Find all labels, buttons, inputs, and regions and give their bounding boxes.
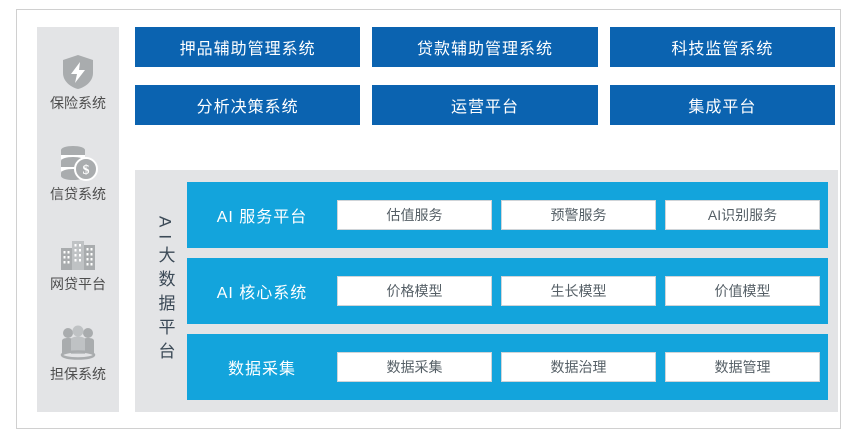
system-button-analysis-decision[interactable]: 分析决策系统 [135,85,360,125]
top-systems-group: 押品辅助管理系统 贷款辅助管理系统 科技监管系统 分析决策系统 运营平台 集成平… [135,27,835,143]
platform-row-label: AI 核心系统 [187,279,337,303]
system-row-2: 分析决策系统 运营平台 集成平台 [135,85,835,125]
system-button-operations-platform[interactable]: 运营平台 [372,85,597,125]
svg-text:$: $ [83,163,90,178]
sidebar-item-label: 网贷平台 [50,277,106,292]
system-button-tech-supervision[interactable]: 科技监管系统 [610,27,835,67]
system-button-loan-management[interactable]: 贷款辅助管理系统 [372,27,597,67]
sidebar-item-label: 保险系统 [50,96,106,111]
buildings-icon [57,233,99,273]
chip-ai-recognition-service[interactable]: AI识别服务 [665,200,820,230]
chip-growth-model[interactable]: 生长模型 [501,276,656,306]
chip-data-governance[interactable]: 数据治理 [501,352,656,382]
architecture-diagram-frame: 保险系统 $ 信贷 [16,9,841,429]
sidebar-item-guarantee[interactable]: 担保系统 [37,323,119,382]
platform-vertical-label: AI大数据平台 [143,182,187,400]
chip-group: 估值服务 预警服务 AI识别服务 [337,200,820,230]
chip-group: 数据采集 数据治理 数据管理 [337,352,820,382]
platform-row-data-collection: 数据采集 数据采集 数据治理 数据管理 [187,334,828,400]
sidebar-item-credit[interactable]: $ 信贷系统 [37,143,119,202]
platform-rows: AI 服务平台 估值服务 预警服务 AI识别服务 AI 核心系统 价格模型 生长… [187,182,828,400]
sidebar: 保险系统 $ 信贷 [37,27,119,412]
platform-row-label: AI 服务平台 [187,203,337,227]
chip-data-management[interactable]: 数据管理 [665,352,820,382]
system-row-1: 押品辅助管理系统 贷款辅助管理系统 科技监管系统 [135,27,835,67]
coins-dollar-icon: $ [57,143,99,183]
platform-vertical-label-text: AI大数据平台 [157,216,174,366]
system-button-integration-platform[interactable]: 集成平台 [610,85,835,125]
chip-value-model[interactable]: 价值模型 [665,276,820,306]
platform-row-ai-service: AI 服务平台 估值服务 预警服务 AI识别服务 [187,182,828,248]
chip-alert-service[interactable]: 预警服务 [501,200,656,230]
chip-data-collection[interactable]: 数据采集 [337,352,492,382]
sidebar-item-insurance[interactable]: 保险系统 [37,52,119,111]
ai-bigdata-platform-block: AI大数据平台 AI 服务平台 估值服务 预警服务 AI识别服务 AI 核心系统… [135,170,838,412]
sidebar-item-online-loan[interactable]: 网贷平台 [37,233,119,292]
people-group-icon [57,323,99,363]
sidebar-item-label: 担保系统 [50,367,106,382]
sidebar-item-label: 信贷系统 [50,187,106,202]
platform-row-label: 数据采集 [187,355,337,379]
chip-price-model[interactable]: 价格模型 [337,276,492,306]
system-button-collateral-management[interactable]: 押品辅助管理系统 [135,27,360,67]
chip-group: 价格模型 生长模型 价值模型 [337,276,820,306]
shield-bolt-icon [57,52,99,92]
platform-row-ai-core: AI 核心系统 价格模型 生长模型 价值模型 [187,258,828,324]
chip-valuation-service[interactable]: 估值服务 [337,200,492,230]
